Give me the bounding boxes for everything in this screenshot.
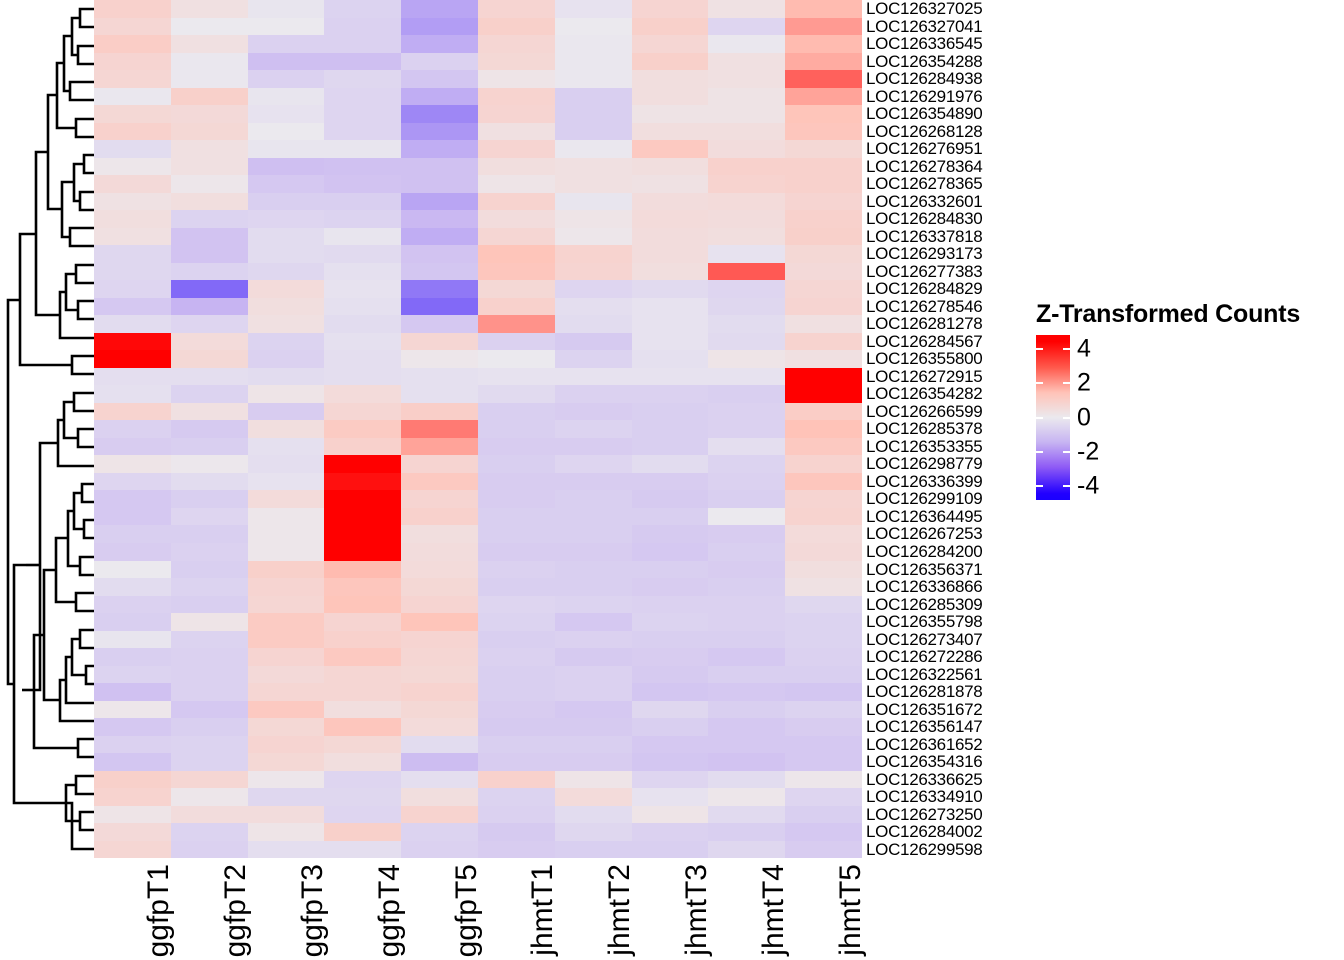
heatmap-cell <box>785 403 862 421</box>
heatmap-cell <box>785 315 862 333</box>
heatmap-row <box>94 193 862 211</box>
heatmap-cell <box>94 175 171 193</box>
heatmap-cell <box>401 666 478 684</box>
heatmap-cell <box>94 158 171 176</box>
heatmap-cell <box>94 473 171 491</box>
heatmap-cell <box>785 420 862 438</box>
heatmap-cell <box>478 736 555 754</box>
heatmap-cell <box>401 123 478 141</box>
row-label: LOC126336545 <box>866 35 1036 53</box>
heatmap-cell <box>785 718 862 736</box>
heatmap-cell <box>324 631 401 649</box>
heatmap-cell <box>248 88 325 106</box>
heatmap-cell <box>708 490 785 508</box>
heatmap-cell <box>632 53 709 71</box>
heatmap-cell <box>401 718 478 736</box>
heatmap-cell <box>708 228 785 246</box>
heatmap-row <box>94 35 862 53</box>
heatmap-cell <box>401 158 478 176</box>
heatmap-cell <box>632 771 709 789</box>
heatmap-row <box>94 718 862 736</box>
heatmap-cell <box>632 683 709 701</box>
row-label: LOC126299109 <box>866 490 1036 508</box>
heatmap-cell <box>94 210 171 228</box>
heatmap-cell <box>401 631 478 649</box>
heatmap-cell <box>94 333 171 351</box>
column-label-slot: ggfpT4 <box>324 858 401 960</box>
row-label: LOC126327041 <box>866 18 1036 36</box>
heatmap-cell <box>632 18 709 36</box>
heatmap-row <box>94 771 862 789</box>
heatmap-cell <box>94 543 171 561</box>
heatmap-cell <box>478 508 555 526</box>
heatmap-cell <box>401 263 478 281</box>
row-label: LOC126268128 <box>866 123 1036 141</box>
row-label: LOC126322561 <box>866 666 1036 684</box>
heatmap-row <box>94 736 862 754</box>
row-label: LOC126337818 <box>866 228 1036 246</box>
heatmap-cell <box>708 70 785 88</box>
heatmap-row <box>94 525 862 543</box>
heatmap-cell <box>478 420 555 438</box>
heatmap-cell <box>401 280 478 298</box>
heatmap-cell <box>478 280 555 298</box>
heatmap-cell <box>248 210 325 228</box>
heatmap-cell <box>94 35 171 53</box>
heatmap-row <box>94 280 862 298</box>
heatmap-cell <box>708 718 785 736</box>
heatmap-cell <box>248 18 325 36</box>
heatmap-cell <box>708 561 785 579</box>
heatmap-cell <box>94 0 171 18</box>
heatmap-cell <box>555 228 632 246</box>
heatmap-row <box>94 613 862 631</box>
heatmap-cell <box>478 298 555 316</box>
row-label: LOC126291976 <box>866 88 1036 106</box>
heatmap-cell <box>785 350 862 368</box>
heatmap-cell <box>785 263 862 281</box>
row-label: LOC126332601 <box>866 193 1036 211</box>
heatmap-cell <box>708 105 785 123</box>
column-label-slot: ggfpT1 <box>94 858 171 960</box>
heatmap-cell <box>785 823 862 841</box>
heatmap-cell <box>632 490 709 508</box>
heatmap-cell <box>785 53 862 71</box>
heatmap-row <box>94 701 862 719</box>
heatmap-cell <box>401 385 478 403</box>
colorbar-tick-left <box>1036 382 1043 384</box>
heatmap-cell <box>478 70 555 88</box>
heatmap-cell <box>632 385 709 403</box>
heatmap-cell <box>94 105 171 123</box>
heatmap-cell <box>785 175 862 193</box>
heatmap-cell <box>248 525 325 543</box>
heatmap-cell <box>401 88 478 106</box>
heatmap-cell <box>248 788 325 806</box>
heatmap-cell <box>555 508 632 526</box>
heatmap-cell <box>171 666 248 684</box>
heatmap-cell <box>171 175 248 193</box>
heatmap-cell <box>708 701 785 719</box>
heatmap-cell <box>478 0 555 18</box>
heatmap-cell <box>401 53 478 71</box>
heatmap-cell <box>632 70 709 88</box>
row-label: LOC126354282 <box>866 385 1036 403</box>
heatmap-cell <box>478 543 555 561</box>
heatmap-cell <box>478 718 555 736</box>
heatmap-cell <box>478 350 555 368</box>
row-label: LOC126276951 <box>866 140 1036 158</box>
heatmap-cell <box>708 123 785 141</box>
heatmap-cell <box>248 420 325 438</box>
colorbar-tick-label: -2 <box>1077 439 1099 464</box>
heatmap-cell <box>708 88 785 106</box>
heatmap-cell <box>324 508 401 526</box>
heatmap-cell <box>478 105 555 123</box>
heatmap-cell <box>785 193 862 211</box>
legend-body: 420-2-4 <box>1036 335 1336 500</box>
heatmap-row <box>94 368 862 386</box>
heatmap-row <box>94 210 862 228</box>
heatmap-cell <box>248 0 325 18</box>
heatmap-cell <box>555 561 632 579</box>
row-label: LOC126299598 <box>866 841 1036 859</box>
heatmap-cell <box>324 333 401 351</box>
heatmap-cell <box>324 420 401 438</box>
row-label: LOC126285309 <box>866 596 1036 614</box>
heatmap-cell <box>248 263 325 281</box>
heatmap-cell <box>324 683 401 701</box>
colorbar-tick-right <box>1063 485 1070 487</box>
row-label: LOC126327025 <box>866 0 1036 18</box>
heatmap-cell <box>171 123 248 141</box>
heatmap-cell <box>248 53 325 71</box>
heatmap-cell <box>324 806 401 824</box>
heatmap-cell <box>171 158 248 176</box>
heatmap-cell <box>248 490 325 508</box>
heatmap-cell <box>248 123 325 141</box>
row-label: LOC126336625 <box>866 771 1036 789</box>
heatmap-cell <box>94 53 171 71</box>
heatmap-cell <box>248 158 325 176</box>
heatmap-cell <box>785 298 862 316</box>
heatmap-cell <box>324 438 401 456</box>
row-label: LOC126284829 <box>866 280 1036 298</box>
heatmap-cell <box>555 438 632 456</box>
heatmap-cell <box>708 753 785 771</box>
heatmap-row <box>94 455 862 473</box>
heatmap-cell <box>478 263 555 281</box>
heatmap-cell <box>785 35 862 53</box>
heatmap-cell <box>94 350 171 368</box>
heatmap-cell <box>555 315 632 333</box>
column-label-slot: ggfpT3 <box>248 858 325 960</box>
heatmap-cell <box>555 753 632 771</box>
heatmap-row <box>94 683 862 701</box>
row-label: LOC126266599 <box>866 403 1036 421</box>
heatmap-row <box>94 333 862 351</box>
heatmap-cell <box>324 123 401 141</box>
heatmap-cell <box>94 841 171 859</box>
colorbar-tick-right <box>1063 382 1070 384</box>
heatmap-cell <box>94 648 171 666</box>
heatmap-cell <box>632 561 709 579</box>
heatmap-cell <box>632 613 709 631</box>
heatmap-cell <box>785 683 862 701</box>
heatmap-cell <box>785 631 862 649</box>
heatmap-cell <box>708 35 785 53</box>
heatmap-cell <box>632 315 709 333</box>
colorbar-tick-label: 2 <box>1077 371 1091 396</box>
heatmap-cell <box>478 18 555 36</box>
column-label-slot: ggfpT5 <box>401 858 478 960</box>
heatmap-cell <box>401 368 478 386</box>
row-label: LOC126336399 <box>866 473 1036 491</box>
heatmap-cell <box>171 420 248 438</box>
heatmap-cell <box>632 631 709 649</box>
heatmap-cell <box>401 228 478 246</box>
colorbar-tick-left <box>1036 417 1043 419</box>
heatmap-cell <box>478 561 555 579</box>
heatmap-cell <box>632 88 709 106</box>
heatmap-cell <box>555 683 632 701</box>
heatmap-row <box>94 490 862 508</box>
heatmap-cell <box>248 806 325 824</box>
heatmap-row <box>94 578 862 596</box>
heatmap-row <box>94 158 862 176</box>
heatmap-cell <box>785 280 862 298</box>
heatmap-cell <box>248 403 325 421</box>
colorbar-tick-right <box>1063 417 1070 419</box>
heatmap-cell <box>94 701 171 719</box>
heatmap-cell <box>632 648 709 666</box>
heatmap-cell <box>401 578 478 596</box>
heatmap-cell <box>555 210 632 228</box>
heatmap-cell <box>632 543 709 561</box>
heatmap-cell <box>94 228 171 246</box>
heatmap-row <box>94 823 862 841</box>
heatmap-cell <box>324 18 401 36</box>
heatmap-cell <box>708 298 785 316</box>
heatmap-cell <box>171 350 248 368</box>
row-label: LOC126355800 <box>866 350 1036 368</box>
heatmap-cell <box>94 631 171 649</box>
heatmap-cell <box>171 683 248 701</box>
heatmap-cell <box>94 193 171 211</box>
heatmap-cell <box>708 771 785 789</box>
heatmap-cell <box>785 18 862 36</box>
row-label: LOC126284200 <box>866 543 1036 561</box>
heatmap-cell <box>171 368 248 386</box>
heatmap-cell <box>94 245 171 263</box>
column-label: jhmtT5 <box>836 864 866 956</box>
heatmap-cell <box>171 701 248 719</box>
heatmap-cell <box>632 578 709 596</box>
heatmap-cell <box>708 140 785 158</box>
heatmap-cell <box>632 0 709 18</box>
heatmap-cell <box>248 613 325 631</box>
heatmap-cell <box>785 841 862 859</box>
heatmap-cell <box>708 0 785 18</box>
heatmap-cell <box>632 701 709 719</box>
heatmap-cell <box>248 823 325 841</box>
heatmap-cell <box>401 736 478 754</box>
heatmap-cell <box>171 35 248 53</box>
heatmap-cell <box>324 228 401 246</box>
heatmap-cell <box>478 385 555 403</box>
heatmap-cell <box>555 543 632 561</box>
heatmap-cell <box>632 350 709 368</box>
heatmap-cell <box>708 280 785 298</box>
heatmap-cell <box>248 385 325 403</box>
heatmap-cell <box>171 298 248 316</box>
heatmap-cell <box>324 35 401 53</box>
heatmap-cell <box>555 0 632 18</box>
heatmap-cell <box>94 525 171 543</box>
heatmap-cell <box>555 18 632 36</box>
heatmap-cell <box>324 403 401 421</box>
heatmap-cell <box>401 175 478 193</box>
row-label: LOC126284830 <box>866 210 1036 228</box>
heatmap-cell <box>478 666 555 684</box>
heatmap-cell <box>478 473 555 491</box>
heatmap-cell <box>94 403 171 421</box>
heatmap-row <box>94 298 862 316</box>
heatmap-cell <box>478 140 555 158</box>
heatmap-cell <box>478 771 555 789</box>
heatmap-cell <box>324 385 401 403</box>
column-label-slot: jhmtT3 <box>632 858 709 960</box>
heatmap-cell <box>171 596 248 614</box>
heatmap-cell <box>478 631 555 649</box>
heatmap-cell <box>632 228 709 246</box>
heatmap-cell <box>785 368 862 386</box>
heatmap-cell <box>555 771 632 789</box>
heatmap-cell <box>171 788 248 806</box>
heatmap-cell <box>632 455 709 473</box>
heatmap-cell <box>785 105 862 123</box>
colorbar <box>1036 335 1070 500</box>
row-label: LOC126356371 <box>866 561 1036 579</box>
heatmap-cell <box>401 403 478 421</box>
heatmap-cell <box>401 841 478 859</box>
heatmap-cell <box>555 631 632 649</box>
heatmap-cell <box>94 490 171 508</box>
heatmap-row <box>94 123 862 141</box>
heatmap-cell <box>555 718 632 736</box>
heatmap-cell <box>785 648 862 666</box>
heatmap-cell <box>632 806 709 824</box>
heatmap-cell <box>324 543 401 561</box>
heatmap-cell <box>785 140 862 158</box>
heatmap-cell <box>478 788 555 806</box>
heatmap-cell <box>478 88 555 106</box>
heatmap-cell <box>785 490 862 508</box>
heatmap-cell <box>401 105 478 123</box>
heatmap-cell <box>632 666 709 684</box>
heatmap-cell <box>248 438 325 456</box>
heatmap-cell <box>555 403 632 421</box>
heatmap-cell <box>324 666 401 684</box>
heatmap-cell <box>708 578 785 596</box>
heatmap-cell <box>708 473 785 491</box>
heatmap-cell <box>632 158 709 176</box>
heatmap-cell <box>785 525 862 543</box>
row-label: LOC126284002 <box>866 823 1036 841</box>
heatmap-cell <box>708 245 785 263</box>
column-label-slot: ggfpT2 <box>171 858 248 960</box>
heatmap-cell <box>708 175 785 193</box>
heatmap-cell <box>324 561 401 579</box>
row-label: LOC126354890 <box>866 105 1036 123</box>
heatmap-cell <box>478 525 555 543</box>
legend-title: Z-Transformed Counts <box>1036 300 1336 329</box>
heatmap-cell <box>708 420 785 438</box>
heatmap-cell <box>94 455 171 473</box>
colorbar-tick-label: 4 <box>1077 336 1091 361</box>
heatmap-cell <box>94 683 171 701</box>
heatmap-cell <box>478 613 555 631</box>
heatmap-cell <box>248 298 325 316</box>
row-label: LOC126285378 <box>866 420 1036 438</box>
heatmap-cell <box>785 736 862 754</box>
heatmap-cell <box>171 490 248 508</box>
heatmap-cell <box>555 490 632 508</box>
heatmap-cell <box>248 193 325 211</box>
colorbar-tick-labels: 420-2-4 <box>1077 335 1137 500</box>
heatmap-cell <box>478 490 555 508</box>
heatmap-cell <box>785 543 862 561</box>
heatmap-row <box>94 105 862 123</box>
heatmap-cell <box>708 315 785 333</box>
heatmap-cell <box>632 823 709 841</box>
heatmap-cell <box>94 718 171 736</box>
heatmap-cell <box>94 806 171 824</box>
heatmap-cell <box>555 613 632 631</box>
heatmap-cell <box>401 455 478 473</box>
heatmap-row <box>94 263 862 281</box>
heatmap-cell <box>324 140 401 158</box>
heatmap-cell <box>785 666 862 684</box>
heatmap-cell <box>248 578 325 596</box>
heatmap-cell <box>171 193 248 211</box>
heatmap-cell <box>171 823 248 841</box>
heatmap-cell <box>401 35 478 53</box>
heatmap-cell <box>401 543 478 561</box>
heatmap-cell <box>632 841 709 859</box>
heatmap-cell <box>632 280 709 298</box>
heatmap-cell <box>171 455 248 473</box>
heatmap-cell <box>708 525 785 543</box>
heatmap-cell <box>248 280 325 298</box>
heatmap-cell <box>555 701 632 719</box>
heatmap-cell <box>785 158 862 176</box>
heatmap-cell <box>708 350 785 368</box>
heatmap-cell <box>785 123 862 141</box>
heatmap-cell <box>94 788 171 806</box>
heatmap-cell <box>785 210 862 228</box>
row-label: LOC126281878 <box>866 683 1036 701</box>
row-label: LOC126278546 <box>866 298 1036 316</box>
heatmap-cell <box>401 525 478 543</box>
heatmap-cell <box>708 403 785 421</box>
heatmap-cell <box>478 403 555 421</box>
heatmap-cell <box>555 88 632 106</box>
heatmap-cell <box>708 788 785 806</box>
dendrogram-svg <box>0 0 94 858</box>
heatmap-cell <box>555 823 632 841</box>
heatmap-cell <box>401 771 478 789</box>
